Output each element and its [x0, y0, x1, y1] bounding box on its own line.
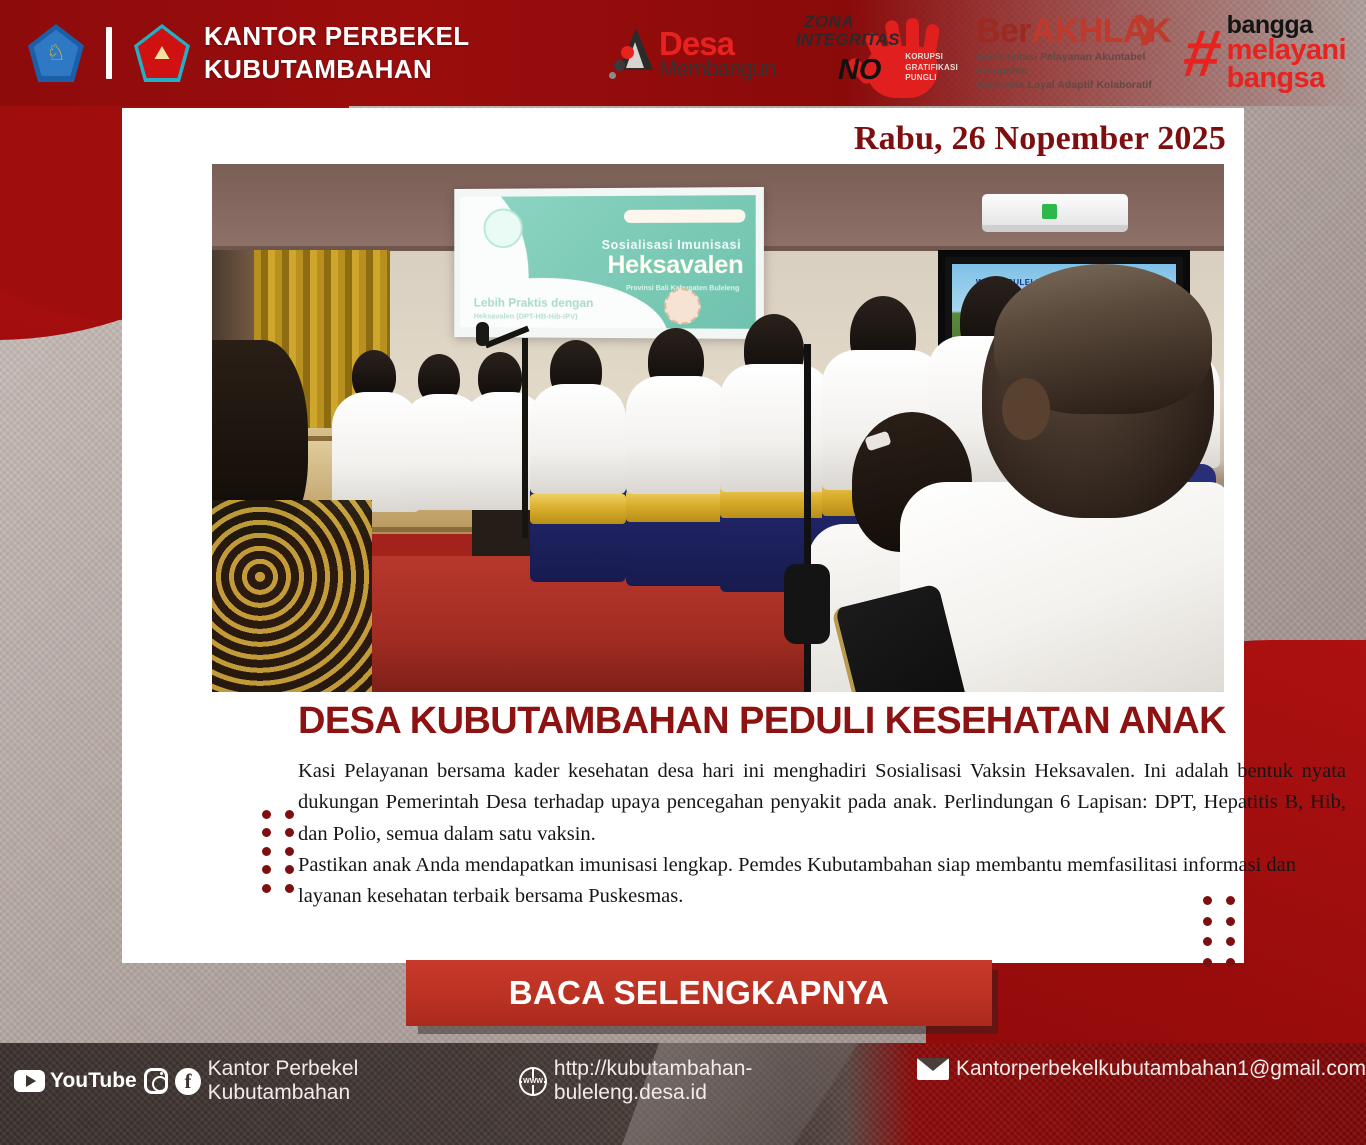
- projector-screen: Sosialisasi Imunisasi Heksavalen Provins…: [454, 187, 764, 339]
- article-paragraph-2: Pastikan anak Anda mendapatkan imunisasi…: [298, 850, 1346, 913]
- berakhlak-sub-2: Harmonis Loyal Adaptif Kolaboratif: [976, 78, 1164, 92]
- org-title-line-2: KUBUTAMBAHAN: [204, 53, 470, 86]
- globe-icon: WWW: [519, 1067, 547, 1096]
- email-address[interactable]: Kantorperbekelkubutambahan1@gmail.com: [956, 1057, 1366, 1081]
- envelope-icon: [917, 1058, 949, 1080]
- slide-title-big: Heksavalen: [607, 251, 743, 280]
- youtube-label: YouTube: [50, 1069, 137, 1093]
- zona-integritas-line-1: ZONA: [804, 12, 854, 32]
- zi-small-3: PUNGLI: [905, 73, 958, 84]
- bangga-melayani-bangsa-logo: # bangga melayani bangsa: [1174, 7, 1356, 99]
- slide-badge-icon: [664, 288, 700, 324]
- zi-small-1: KORUPSI: [905, 52, 958, 63]
- desa-membangun-word-1: Desa: [659, 27, 776, 60]
- slide-title-small: Sosialisasi Imunisasi: [602, 238, 742, 252]
- headline-dot-decoration: [262, 810, 296, 894]
- berakhlak-logo: BerAKHLAK ❯ Berorientasi Pelayanan Akunt…: [966, 7, 1174, 99]
- bangga-line-2: melayani: [1227, 37, 1346, 65]
- zi-small-2: GRATIFIKASI: [905, 63, 958, 74]
- article-body: Kasi Pelayanan bersama kader kesehatan d…: [298, 756, 1346, 913]
- buleleng-regency-crest-icon: ⛰: [134, 24, 190, 82]
- zona-integritas-subtext: KORUPSI GRATIFIKASI PUNGLI: [905, 52, 958, 84]
- footer-website-group[interactable]: WWW http://kubutambahan-buleleng.desa.id: [519, 1057, 889, 1105]
- slide-tagline: Lebih Praktis dengan: [474, 296, 594, 310]
- zona-integritas-line-2: INTEGRITAS: [796, 30, 900, 50]
- microphone-icon: [476, 322, 489, 346]
- page-title: DESA KUBUTAMBAHAN PEDULI KESEHATAN ANAK: [298, 700, 1228, 743]
- presentation-slide: Sosialisasi Imunisasi Heksavalen Provins…: [460, 195, 756, 329]
- desa-membangun-word-2: Membangun: [659, 58, 776, 80]
- website-url[interactable]: http://kubutambahan-buleleng.desa.id: [554, 1057, 889, 1105]
- desa-membangun-logo: Desa Membangun: [599, 7, 786, 99]
- publish-date: Rabu, 26 Nopember 2025: [854, 120, 1226, 158]
- footer-social-group[interactable]: YouTube f Kantor Perbekel Kubutambahan: [14, 1057, 487, 1105]
- header-divider: [106, 27, 112, 79]
- zona-integritas-logo: ZONA INTEGRITAS NO KORUPSI GRATIFIKASI P…: [786, 7, 966, 99]
- organization-title: KANTOR PERBEKEL KUBUTAMBAHAN: [204, 20, 470, 87]
- side-dot-decoration: [1203, 896, 1237, 970]
- header-logo-strip: Desa Membangun ZONA INTEGRITAS NO: [599, 0, 1356, 106]
- photo-foreground-batik: [212, 500, 372, 692]
- slide-logo-icon: [484, 208, 523, 248]
- www-label: WWW: [522, 1078, 544, 1085]
- read-more-label: BACA SELENGKAPNYA: [509, 974, 889, 1012]
- slide-tagline-sub: Heksavalen (DPT-HB-Hib-IPV): [474, 311, 578, 320]
- org-title-line-1: KANTOR PERBEKEL: [204, 20, 470, 53]
- footer-email-group[interactable]: Kantorperbekelkubutambahan1@gmail.com: [917, 1057, 1366, 1081]
- youtube-icon[interactable]: YouTube: [14, 1069, 137, 1093]
- berakhlak-sub-1: Berorientasi Pelayanan Akuntabel Kompete…: [976, 50, 1164, 78]
- read-more-button[interactable]: BACA SELENGKAPNYA: [406, 960, 992, 1026]
- header: ♘ ⛰ KANTOR PERBEKEL KUBUTAMBAHAN Desa Me…: [0, 0, 1366, 106]
- instagram-icon[interactable]: [144, 1068, 169, 1094]
- social-handle: Kantor Perbekel Kubutambahan: [208, 1057, 487, 1105]
- zona-integritas-no: NO: [838, 54, 882, 87]
- article-paragraph-1: Kasi Pelayanan bersama kader kesehatan d…: [298, 756, 1346, 850]
- berakhlak-title-a: Ber: [976, 12, 1031, 50]
- content-card: Rabu, 26 Nopember 2025 Sosialisasi Imuni…: [122, 108, 1244, 963]
- hashtag-icon: #: [1180, 27, 1224, 80]
- event-photo: Sosialisasi Imunisasi Heksavalen Provins…: [212, 164, 1224, 692]
- bangga-line-3: bangsa: [1227, 65, 1346, 93]
- facebook-icon[interactable]: f: [175, 1068, 200, 1095]
- footer-content: YouTube f Kantor Perbekel Kubutambahan W…: [0, 1043, 1366, 1145]
- bali-province-crest-icon: ♘: [28, 24, 84, 82]
- desa-membangun-mark-icon: [609, 26, 655, 80]
